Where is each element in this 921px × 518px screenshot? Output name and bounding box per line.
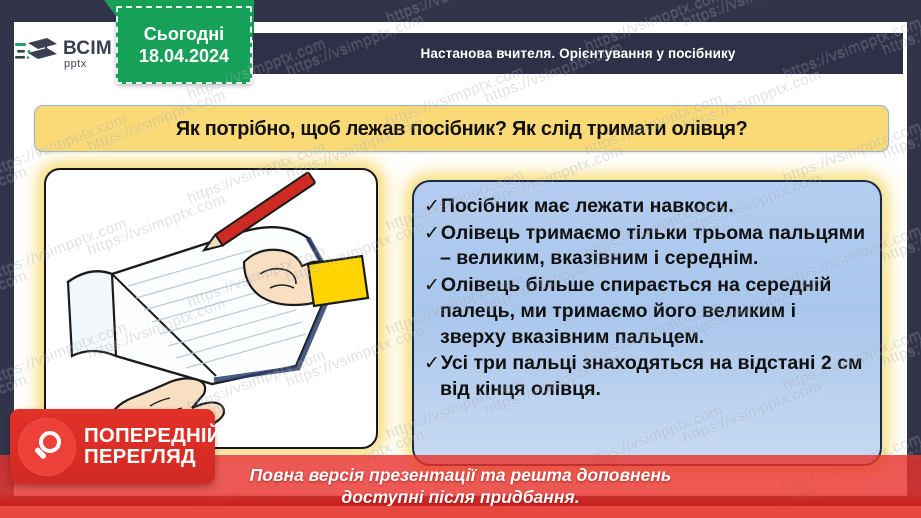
preview-badge: ПОПЕРЕДНІЙ ПЕРЕГЛЯД	[10, 409, 215, 484]
title-banner: Як потрібно, щоб лежав посібник? Як слід…	[34, 105, 889, 152]
preview-badge-line2: ПЕРЕГЛЯД	[84, 447, 222, 467]
list-item: ✓Усі три пальці знаходяться на відстані …	[424, 351, 866, 402]
date-badge-value: 18.04.2024	[139, 45, 229, 68]
list-item-text: Олівець більше спирається на середній па…	[440, 274, 831, 347]
list-item: ✓Олівець тримаємо тільки трьома пальцями…	[424, 221, 866, 272]
brand-name: ВСІМ	[63, 39, 112, 58]
brand-logo-text: ВСІМ pptx	[63, 39, 112, 70]
page-title: Як потрібно, щоб лежав посібник? Як слід…	[176, 117, 748, 141]
list-item-text: Усі три пальці знаходяться на відстані 2…	[440, 352, 862, 400]
slide-root: ВСІМ pptx Сьогодні 18.04.2024 Настанова …	[0, 0, 921, 518]
list-item-text: Олівець тримаємо тільки трьома пальцями …	[440, 222, 865, 270]
purchase-banner-strip	[0, 506, 921, 518]
list-item-text: Посібник має лежати навкоси.	[441, 195, 734, 217]
preview-badge-text: ПОПЕРЕДНІЙ ПЕРЕГЛЯД	[84, 426, 219, 467]
header-bar: Настанова вчителя. Орієнтування у посібн…	[253, 33, 903, 74]
check-icon: ✓	[424, 196, 440, 217]
list-item: ✓Олівець більше спирається на середній п…	[424, 273, 866, 350]
purchase-banner-line1: Повна версія презентації та решта доповн…	[250, 465, 672, 487]
date-badge: Сьогодні 18.04.2024	[116, 6, 252, 84]
graduation-cap-icon	[14, 36, 58, 72]
date-badge-label: Сьогодні	[144, 23, 224, 46]
magnifier-icon	[18, 418, 76, 476]
instructions-panel: ✓Посібник має лежати навкоси. ✓Олівець т…	[412, 180, 882, 466]
check-icon: ✓	[424, 223, 440, 244]
check-icon: ✓	[424, 353, 440, 374]
check-icon: ✓	[424, 275, 440, 296]
illustration-panel	[44, 168, 378, 449]
header-title: Настанова вчителя. Орієнтування у посібн…	[421, 46, 736, 61]
hand-writing-illustration	[46, 170, 372, 443]
list-item: ✓Посібник має лежати навкоси.	[424, 194, 866, 220]
preview-badge-line1: ПОПЕРЕДНІЙ	[84, 426, 222, 446]
brand-subtitle: pptx	[64, 59, 112, 70]
